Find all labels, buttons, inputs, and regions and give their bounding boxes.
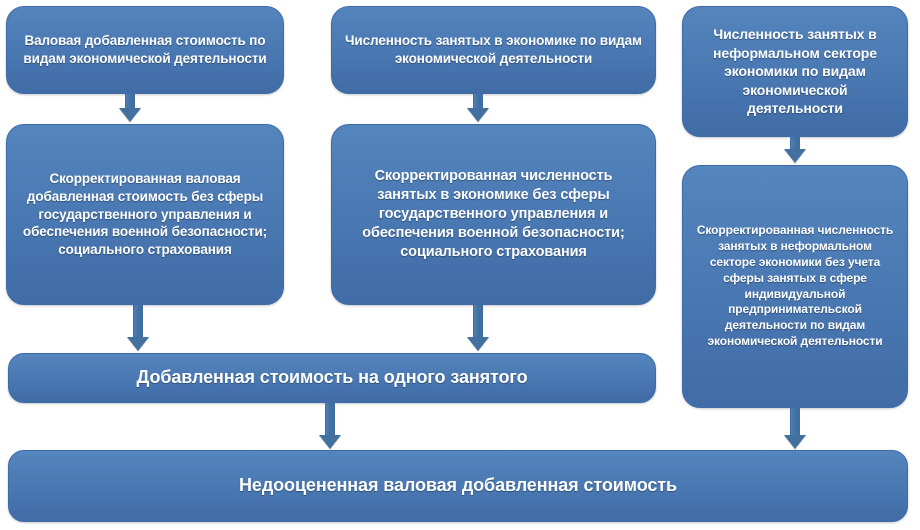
node-underestimated-gva[interactable]: Недооцененная валовая добавленная стоимо… — [8, 450, 908, 522]
node-adjusted-gva[interactable]: Скорректированная валовая добавленная ст… — [6, 124, 284, 305]
node-underestimated-gva-label: Недооцененная валовая добавленная стоимо… — [21, 474, 895, 498]
node-adjusted-gva-label: Скорректированная валовая добавленная ст… — [19, 170, 271, 259]
node-adjusted-informal-employment[interactable]: Скорректированная численность занятых в … — [682, 165, 908, 408]
node-adjusted-employment-label: Скорректированная численность занятых в … — [344, 167, 643, 263]
node-value-added-per-employed-label: Добавленная стоимость на одного занятого — [21, 366, 643, 390]
node-adjusted-employment[interactable]: Скорректированная численность занятых в … — [331, 124, 656, 305]
node-informal-employment-by-activity-label: Численность занятых в неформальном секто… — [695, 25, 895, 117]
node-adjusted-informal-employment-label: Скорректированная численность занятых в … — [695, 223, 895, 350]
flowchart-diagram: Валовая добавленная стоимость по видам э… — [0, 0, 920, 530]
node-gva-by-activity-label: Валовая добавленная стоимость по видам э… — [19, 32, 271, 68]
node-gva-by-activity[interactable]: Валовая добавленная стоимость по видам э… — [6, 6, 284, 94]
node-informal-employment-by-activity[interactable]: Численность занятых в неформальном секто… — [682, 6, 908, 137]
node-employment-by-activity-label: Численность занятых в экономике по видам… — [344, 32, 643, 68]
node-value-added-per-employed[interactable]: Добавленная стоимость на одного занятого — [8, 353, 656, 403]
node-employment-by-activity[interactable]: Численность занятых в экономике по видам… — [331, 6, 656, 94]
